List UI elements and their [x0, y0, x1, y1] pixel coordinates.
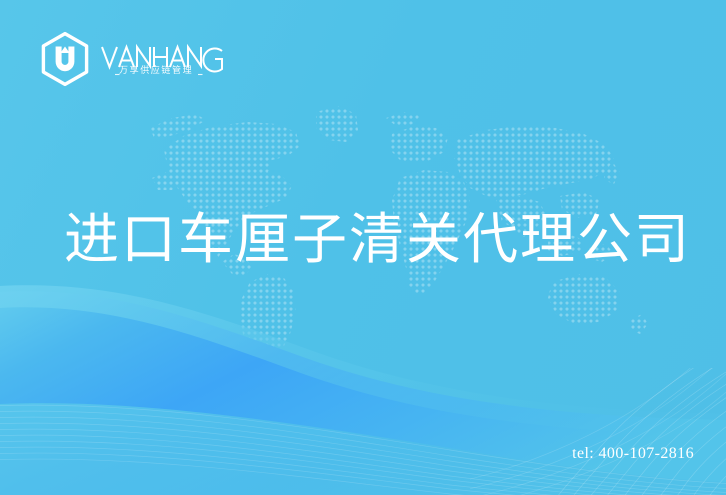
- contact-phone[interactable]: tel: 400-107-2816: [572, 445, 694, 463]
- page-title: 进口车厘子清关代理公司: [64, 206, 684, 272]
- promo-banner: 万享供应链管理 进口车厘子清关代理公司 tel: 400-107-2816: [0, 0, 726, 495]
- vanhang-hexagon-logo-icon: [38, 31, 92, 87]
- logo-wordmark-group: 万享供应链管理: [101, 35, 225, 83]
- logo-subtitle: 万享供应链管理: [119, 65, 209, 76]
- vanhang-wordmark: [101, 39, 225, 83]
- brand-logo[interactable]: 万享供应链管理: [38, 30, 238, 88]
